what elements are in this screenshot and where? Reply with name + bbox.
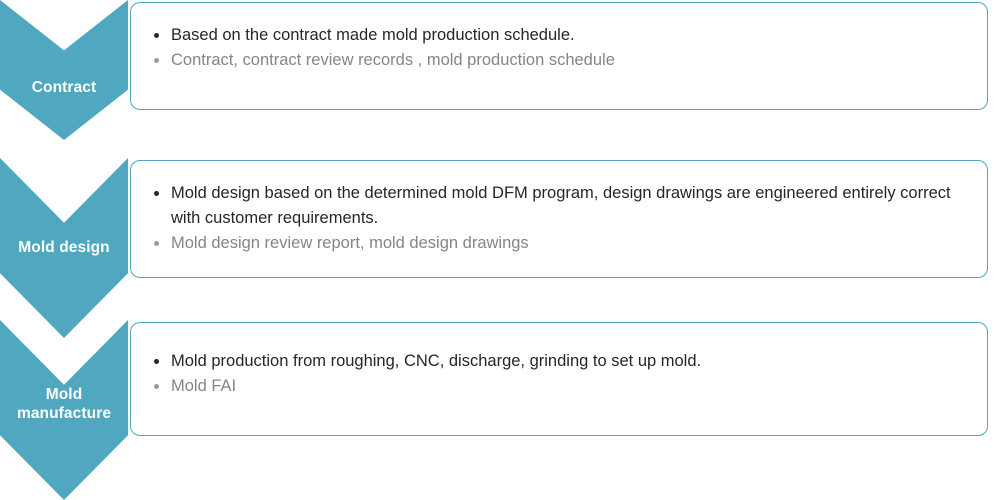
bullet-item-primary: Mold production from roughing, CNC, disc… <box>145 349 973 374</box>
bullet-list: Mold production from roughing, CNC, disc… <box>145 349 973 399</box>
stage-card-mold-manufacture: Mold production from roughing, CNC, disc… <box>130 322 988 436</box>
bullet-text: Mold FAI <box>171 377 236 395</box>
bullet-item-primary: Based on the contract made mold producti… <box>145 23 973 48</box>
bullet-dot-icon <box>154 33 159 38</box>
bullet-dot-icon <box>154 191 159 196</box>
bullet-item-secondary: Contract, contract review records , mold… <box>145 48 973 73</box>
bullet-item-primary: Mold design based on the determined mold… <box>145 181 973 231</box>
stage-label-contract: Contract <box>0 78 128 97</box>
stage-card-contract: Based on the contract made mold producti… <box>130 2 988 110</box>
bullet-list: Mold design based on the determined mold… <box>145 181 973 256</box>
bullet-text: Based on the contract made mold producti… <box>171 26 575 44</box>
bullet-dot-icon <box>154 58 159 63</box>
bullet-dot-icon <box>154 359 159 364</box>
stage-label-mold-manufacture: Mold manufacture <box>0 385 128 423</box>
bullet-dot-icon <box>154 384 159 389</box>
bullet-item-secondary: Mold FAI <box>145 374 973 399</box>
bullet-dot-icon <box>154 241 159 246</box>
bullet-text: Mold design based on the determined mold… <box>171 184 951 227</box>
bullet-text: Mold production from roughing, CNC, disc… <box>171 352 701 370</box>
process-flow-diagram: Contract Based on the contract made mold… <box>0 0 1000 500</box>
bullet-text: Mold design review report, mold design d… <box>171 234 529 252</box>
stage-label-mold-design: Mold design <box>0 238 128 257</box>
stage-card-mold-design: Mold design based on the determined mold… <box>130 160 988 278</box>
bullet-text: Contract, contract review records , mold… <box>171 51 615 69</box>
bullet-list: Based on the contract made mold producti… <box>145 23 973 73</box>
stage-chevron-contract <box>0 0 128 140</box>
bullet-item-secondary: Mold design review report, mold design d… <box>145 231 973 256</box>
